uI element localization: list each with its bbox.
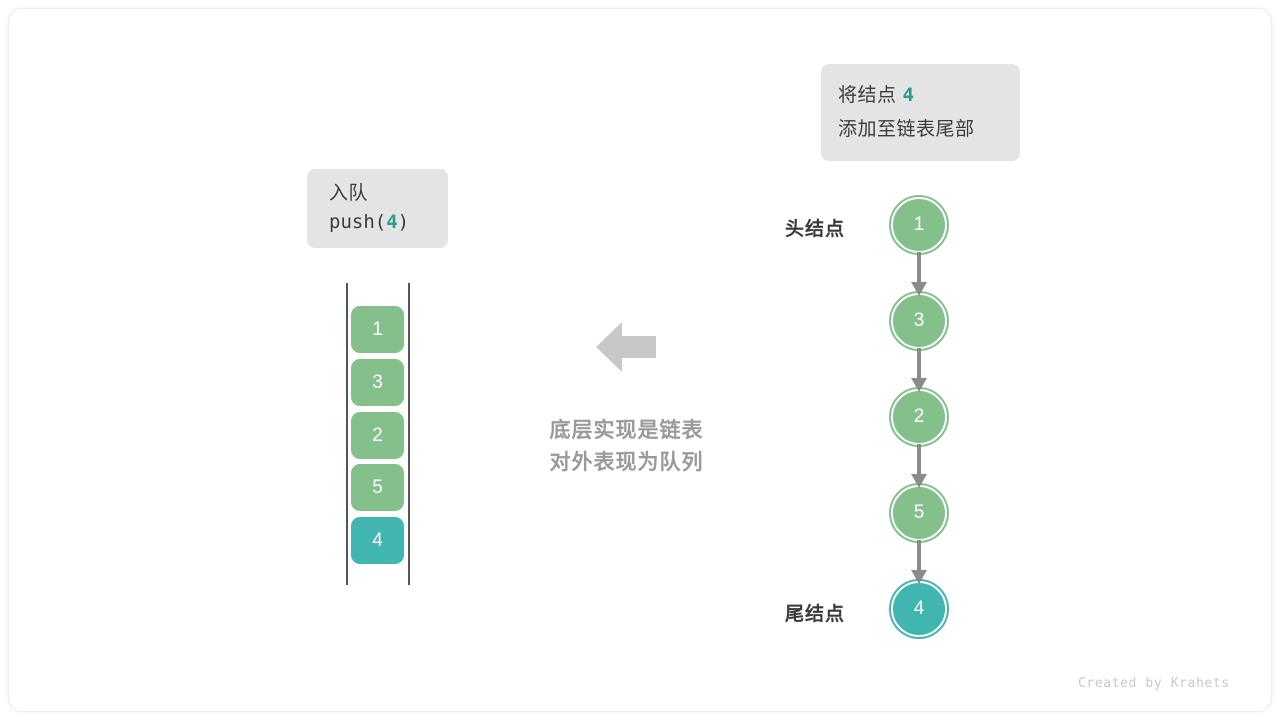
queue-rail-right (408, 283, 410, 585)
tail-node-label: 尾结点 (785, 599, 845, 626)
queue-cell: 2 (351, 412, 404, 459)
callout-append-line2: 添加至链表尾部 (838, 113, 1020, 147)
list-node: 2 (891, 389, 947, 445)
list-node: 3 (891, 293, 947, 349)
callout-push-line1: 入队 (329, 180, 448, 207)
callout-push-value: 4 (386, 211, 397, 233)
callout-append-line1: 将结点4 (838, 78, 1020, 113)
connector-arrow-icon (905, 444, 933, 490)
footer-credit: Created by Krahets (1078, 676, 1230, 691)
connector-arrow-icon (905, 540, 933, 586)
connector-arrow-icon (905, 348, 933, 394)
callout-push: 入队 push(4) (307, 169, 448, 248)
list-node: 5 (891, 485, 947, 541)
list-node: 1 (891, 197, 947, 253)
head-node-label: 头结点 (785, 214, 845, 241)
callout-push-prefix: push( (329, 211, 386, 233)
queue-cell-highlight: 4 (351, 517, 404, 564)
callout-append: 将结点4 添加至链表尾部 (821, 64, 1020, 161)
left-arrow-icon (596, 320, 656, 374)
queue-rail-left (346, 283, 348, 585)
queue-cell: 5 (351, 464, 404, 511)
callout-append-prefix: 将结点 (838, 85, 897, 106)
center-caption-line1: 底层实现是链表 (529, 415, 724, 447)
center-caption: 底层实现是链表 对外表现为队列 (529, 415, 724, 479)
center-caption-line2: 对外表现为队列 (529, 447, 724, 479)
queue-cell: 3 (351, 359, 404, 406)
list-node-highlight: 4 (891, 581, 947, 637)
queue-cell: 1 (351, 306, 404, 353)
connector-arrow-icon (905, 252, 933, 298)
figure-canvas: 入队 push(4) 将结点4 添加至链表尾部 1 3 2 5 4 底层实现是链… (0, 0, 1280, 720)
callout-push-line2: push(4) (329, 207, 448, 237)
callout-push-suffix: ) (398, 211, 409, 233)
callout-append-value: 4 (897, 84, 915, 106)
